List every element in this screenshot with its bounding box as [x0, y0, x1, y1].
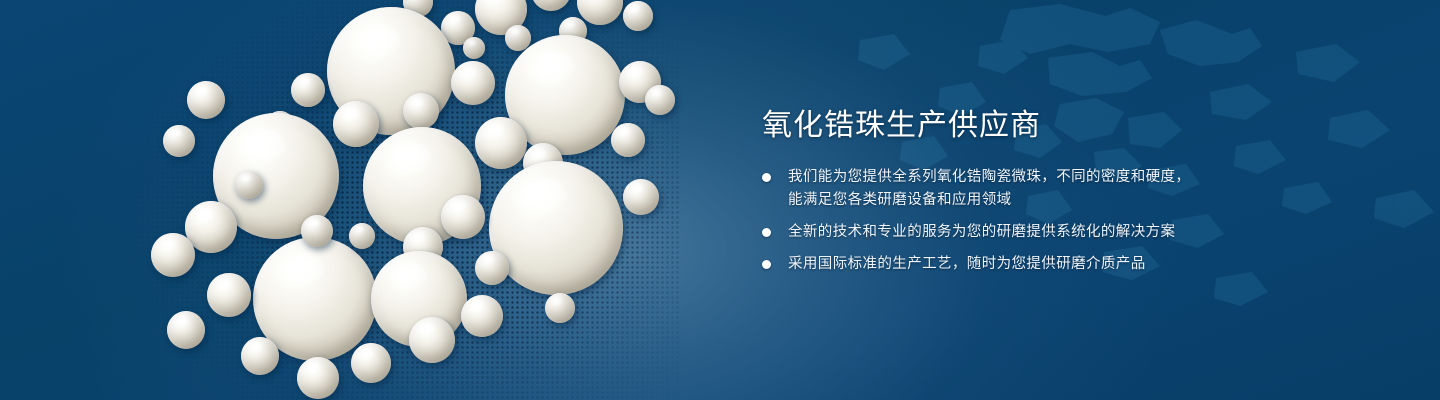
hero-banner: 氧化锆珠生产供应商 我们能为您提供全系列氧化锆陶瓷微珠，不同的密度和硬度， 能满… — [0, 0, 1440, 400]
bullet-text-line1: 采用国际标准的生产工艺，随时为您提供研磨介质产品 — [788, 256, 1146, 272]
bullet-text-line2: 能满足您各类研磨设备和应用领域 — [788, 189, 1232, 212]
banner-copy: 氧化锆珠生产供应商 我们能为您提供全系列氧化锆陶瓷微珠，不同的密度和硬度， 能满… — [762, 106, 1232, 285]
halftone-texture — [120, 0, 680, 400]
bullet-dot-icon — [762, 260, 771, 269]
bullet-text-line1: 全新的技术和专业的服务为您的研磨提供系统化的解决方案 — [788, 224, 1175, 240]
bullet-dot-icon — [762, 228, 771, 237]
bullet-dot-icon — [762, 173, 771, 182]
bullet-item: 采用国际标准的生产工艺，随时为您提供研磨介质产品 — [762, 253, 1232, 276]
bullet-item: 我们能为您提供全系列氧化锆陶瓷微珠，不同的密度和硬度， 能满足您各类研磨设备和应… — [762, 166, 1232, 212]
bullet-text-line1: 我们能为您提供全系列氧化锆陶瓷微珠，不同的密度和硬度， — [788, 169, 1190, 185]
banner-headline: 氧化锆珠生产供应商 — [762, 106, 1232, 146]
bullet-item: 全新的技术和专业的服务为您的研磨提供系统化的解决方案 — [762, 221, 1232, 244]
zirconia-beads-image — [145, 0, 745, 400]
banner-bullet-list: 我们能为您提供全系列氧化锆陶瓷微珠，不同的密度和硬度， 能满足您各类研磨设备和应… — [762, 166, 1232, 276]
